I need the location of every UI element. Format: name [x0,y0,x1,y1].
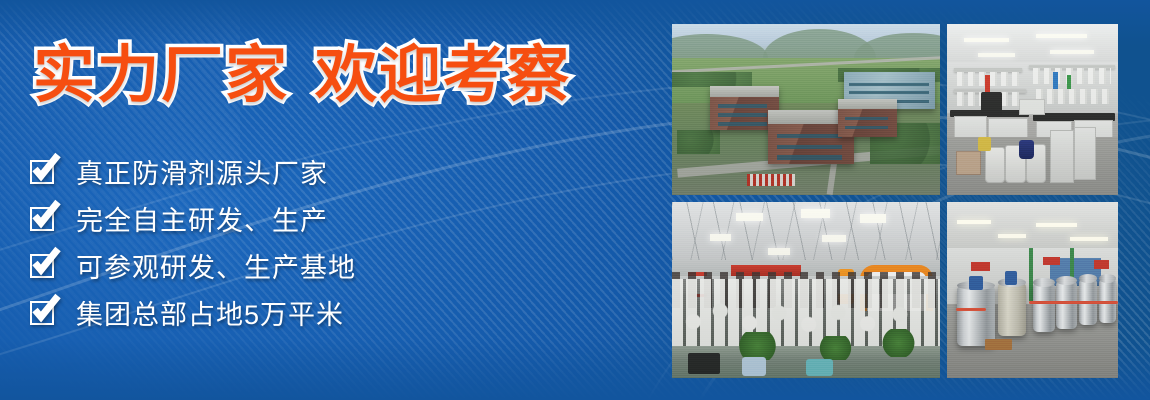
list-item-label: 可参观研发、生产基地 [76,246,356,285]
page-title: 实力厂家欢迎考察 [33,45,571,107]
checkbox-checked-icon [30,298,60,328]
list-item: 完全自主研发、生产 [30,195,356,242]
promo-banner: 实力厂家欢迎考察 真正防滑剂源头厂家 完全自 [0,0,1150,400]
list-item-label: 真正防滑剂源头厂家 [76,152,328,191]
checkbox-checked-icon [30,251,60,281]
list-item: 可参观研发、生产基地 [30,242,356,289]
headline-part-left: 实力厂家 [33,41,289,110]
list-item: 真正防滑剂源头厂家 [30,148,356,195]
headline-part-right: 欢迎考察 [315,41,571,110]
production-equipment-photo [947,202,1118,378]
list-item-label: 完全自主研发、生产 [76,199,328,238]
laboratory-photo [947,24,1118,195]
feature-list: 真正防滑剂源头厂家 完全自主研发、生产 可参观研发、 [30,148,356,336]
checkbox-checked-icon [30,157,60,187]
checkbox-checked-icon [30,204,60,234]
list-item: 集团总部占地5万平米 [30,289,356,336]
list-item-label: 集团总部占地5万平米 [76,293,344,332]
staff-office-photo [672,202,940,378]
text-column: 实力厂家欢迎考察 真正防滑剂源头厂家 完全自 [0,0,660,400]
photo-grid [672,24,1118,378]
aerial-campus-photo [672,24,940,195]
